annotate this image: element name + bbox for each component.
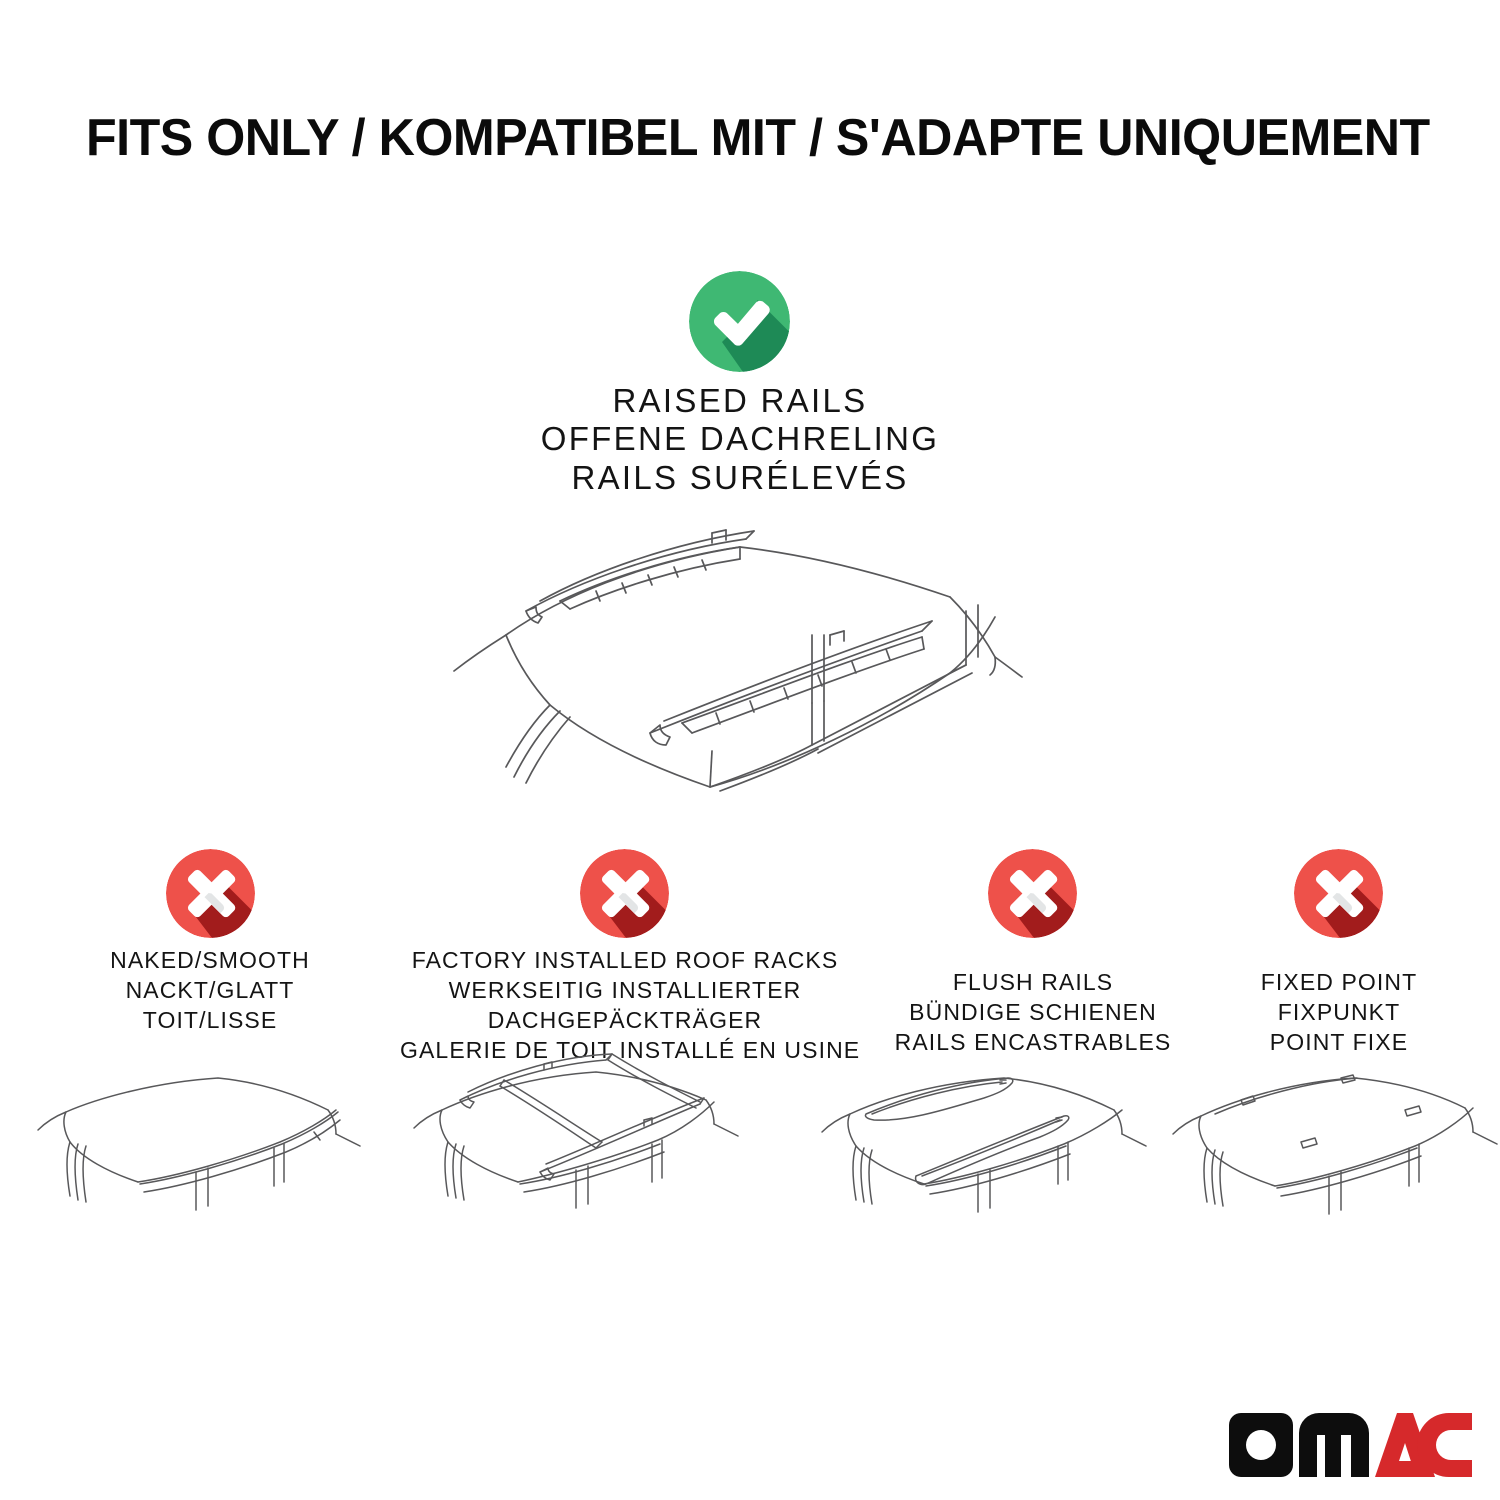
incompatible-caption-flush-rails: FLUSH RAILS BÜNDIGE SCHIENEN RAILS ENCAS… [872,968,1194,1058]
page-title: FITS ONLY / KOMPATIBEL MIT / S'ADAPTE UN… [86,112,1379,164]
logo-letter-o [1229,1413,1293,1477]
logo-letter-m [1299,1413,1369,1477]
caption-line: BÜNDIGE SCHIENEN [872,998,1194,1028]
omac-logo [1229,1413,1472,1477]
caption-line: WERKSEITIG INSTALLIERTER [400,976,850,1006]
x-icon-clip [166,849,255,938]
x-icon-clip [988,849,1077,938]
car-roof-flush-rails-illustration [812,1060,1172,1290]
x-circle-icon [580,849,669,938]
caption-line: RAILS SURÉLEVÉS [440,459,1040,497]
caption-line: OFFENE DACHRELING [440,420,1040,458]
caption-line: FIXPUNKT [1202,998,1476,1028]
car-roof-naked-smooth-illustration [28,1060,388,1290]
caption-line: NACKT/GLATT [50,976,370,1006]
x-circle-icon [1294,849,1383,938]
caption-line: DACHGEPÄCKTRÄGER [400,1006,850,1036]
incompatible-caption-factory-roof-racks: FACTORY INSTALLED ROOF RACKS WERKSEITIG … [400,946,850,1066]
car-roof-fixed-point-illustration [1165,1060,1500,1290]
x-icon-clip [580,849,669,938]
caption-line: FIXED POINT [1202,968,1476,998]
x-circle-icon [988,849,1077,938]
check-circle-icon [689,271,790,372]
incompatible-caption-naked-smooth: NAKED/SMOOTH NACKT/GLATT TOIT/LISSE [50,946,370,1036]
car-roof-factory-roof-racks-illustration [400,1052,800,1292]
caption-line: RAILS ENCASTRABLES [872,1028,1194,1058]
check-icon-clip [689,271,790,372]
caption-line: RAISED RAILS [440,382,1040,420]
caption-line: FACTORY INSTALLED ROOF RACKS [400,946,850,976]
compatible-caption: RAISED RAILS OFFENE DACHRELING RAILS SUR… [440,382,1040,497]
x-icon-clip [1294,849,1383,938]
caption-line: FLUSH RAILS [872,968,1194,998]
caption-line: TOIT/LISSE [50,1006,370,1036]
car-roof-with-raised-rails-illustration [410,505,1070,825]
incompatible-caption-fixed-point: FIXED POINT FIXPUNKT POINT FIXE [1202,968,1476,1058]
caption-line: NAKED/SMOOTH [50,946,370,976]
caption-line: POINT FIXE [1202,1028,1476,1058]
x-circle-icon [166,849,255,938]
